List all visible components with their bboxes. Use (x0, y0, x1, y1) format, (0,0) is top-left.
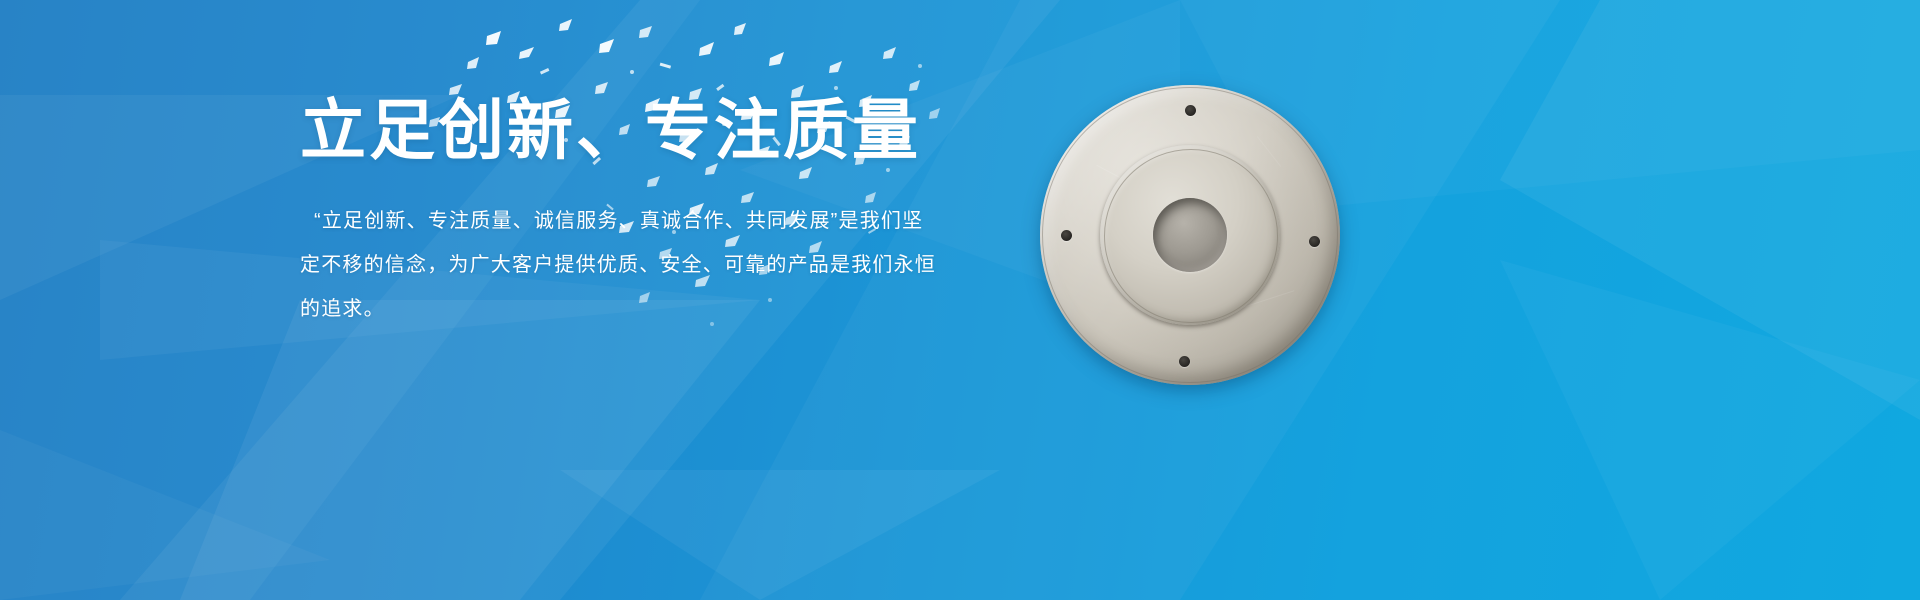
banner-description-line: 的追求。 (300, 287, 950, 331)
banner-description-line: “立足创新、专注质量、诚信服务、真诚合作、共同发展”是我们坚 (300, 199, 950, 243)
banner-text-block: 立足创新、专注质量 “立足创新、专注质量、诚信服务、真诚合作、共同发展”是我们坚… (300, 96, 1200, 331)
banner-description: “立足创新、专注质量、诚信服务、真诚合作、共同发展”是我们坚 定不移的信念，为广… (300, 165, 950, 331)
banner-description-line: 定不移的信念，为广大客户提供优质、安全、可靠的产品是我们永恒 (300, 243, 950, 287)
hero-banner: 立足创新、专注质量 “立足创新、专注质量、诚信服务、真诚合作、共同发展”是我们坚… (0, 0, 1920, 600)
banner-headline: 立足创新、专注质量 (300, 96, 1200, 165)
